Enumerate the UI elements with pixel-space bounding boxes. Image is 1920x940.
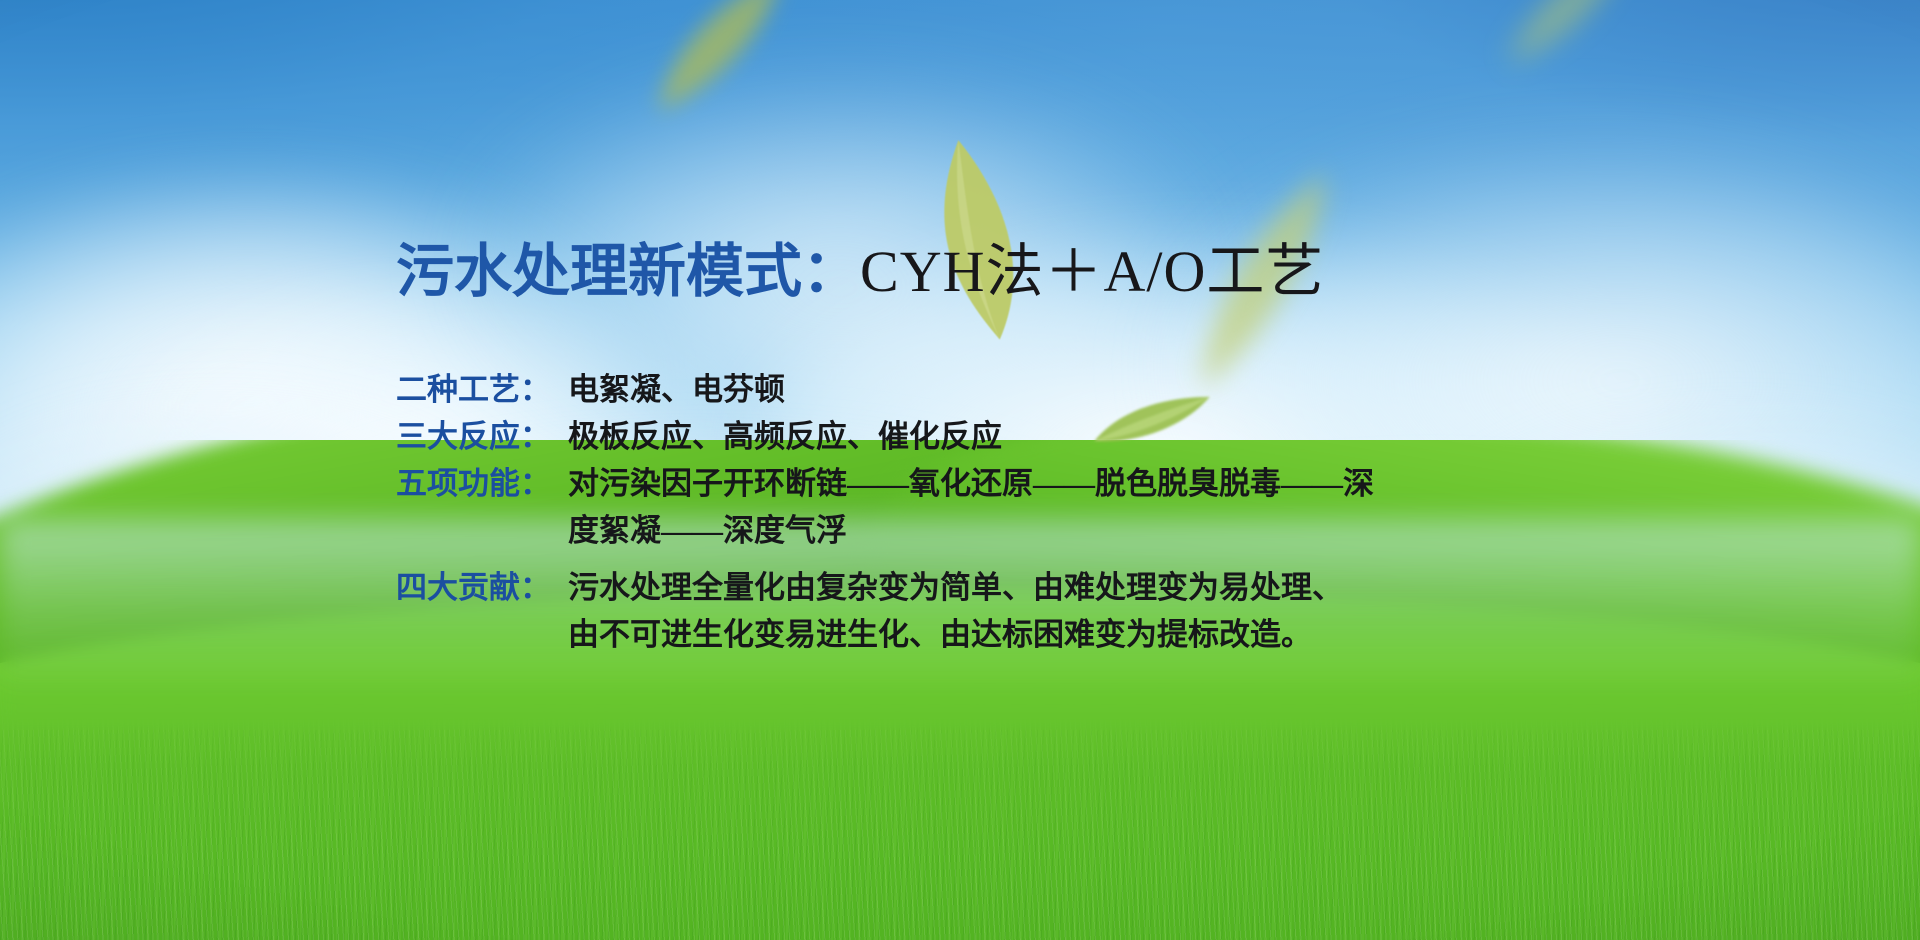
bullet-label: 三大反应： (396, 413, 568, 460)
list-item: 四大贡献： 污水处理全量化由复杂变为简单、由难处理变为易处理、 (396, 564, 1374, 611)
grass-texture (0, 680, 1920, 940)
list-item: 三大反应： 极板反应、高频反应、催化反应 (396, 413, 1374, 460)
slide-canvas: 污水处理新模式：CYH法＋A/O工艺 二种工艺： 电絮凝、电芬顿 三大反应： 极… (0, 0, 1920, 940)
bullet-list: 二种工艺： 电絮凝、电芬顿 三大反应： 极板反应、高频反应、催化反应 五项功能：… (396, 366, 1374, 658)
bullet-text: 对污染因子开环断链——氧化还原——脱色脱臭脱毒——深 (568, 460, 1374, 507)
bullet-continuation: 度絮凝——深度气浮 (396, 507, 1374, 554)
bullet-text: 极板反应、高频反应、催化反应 (568, 413, 1002, 460)
bullet-text: 电絮凝、电芬顿 (568, 366, 785, 413)
bullet-label: 四大贡献： (396, 564, 568, 611)
title-blue-part: 污水处理新模式： (396, 239, 860, 304)
list-item: 二种工艺： 电絮凝、电芬顿 (396, 366, 1374, 413)
bullet-text: 污水处理全量化由复杂变为简单、由难处理变为易处理、 (568, 564, 1343, 611)
title-dark-part: CYH法＋A/O工艺 (860, 239, 1324, 304)
bullet-continuation: 由不可进生化变易进生化、由达标困难变为提标改造。 (396, 611, 1374, 658)
page-title: 污水处理新模式：CYH法＋A/O工艺 (396, 242, 1324, 303)
list-item: 五项功能： 对污染因子开环断链——氧化还原——脱色脱臭脱毒——深 (396, 460, 1374, 507)
bullet-label: 五项功能： (396, 460, 568, 507)
bullet-label: 二种工艺： (396, 366, 568, 413)
